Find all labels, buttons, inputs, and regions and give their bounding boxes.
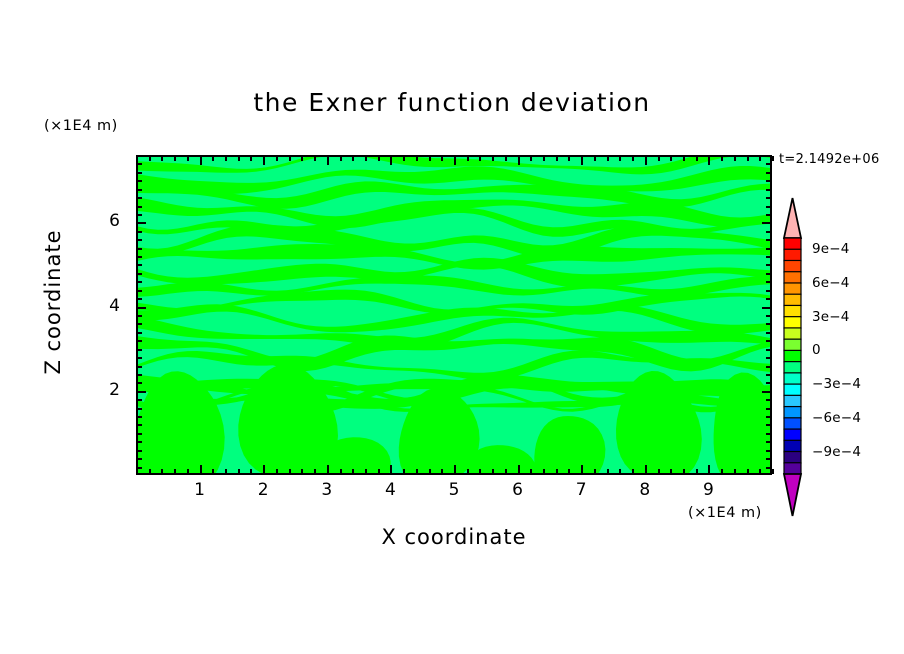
- x-tick: [772, 156, 774, 161]
- y-tick: [137, 172, 142, 174]
- x-tick: [327, 465, 329, 474]
- x-tick: [212, 156, 214, 161]
- colorbar-band: [784, 362, 801, 374]
- x-tick: [696, 469, 698, 474]
- x-tick: [556, 156, 558, 161]
- x-tick: [378, 156, 380, 161]
- y-tick: [137, 264, 142, 266]
- y-tick: [137, 180, 142, 182]
- x-tick-label: 6: [503, 480, 533, 500]
- x-tick: [505, 469, 507, 474]
- x-tick: [467, 156, 469, 161]
- x-tick: [403, 156, 405, 161]
- y-tick: [766, 366, 771, 368]
- colorbar-tick-label: −6e−4: [812, 410, 861, 426]
- x-tick: [416, 469, 418, 474]
- x-tick: [250, 156, 252, 161]
- y-tick-label: 4: [92, 296, 120, 316]
- x-tick: [518, 156, 520, 165]
- colorbar-band: [784, 429, 801, 441]
- x-tick: [479, 156, 481, 161]
- y-tick: [766, 281, 771, 283]
- x-tick: [581, 465, 583, 474]
- x-tick-label: 7: [566, 480, 596, 500]
- x-tick: [454, 465, 456, 474]
- x-tick: [594, 156, 596, 161]
- x-tick: [200, 156, 202, 165]
- y-tick: [137, 424, 142, 426]
- y-tick: [137, 450, 142, 452]
- y-tick: [766, 458, 771, 460]
- y-tick: [137, 441, 142, 443]
- y-tick: [137, 222, 146, 224]
- y-tick: [766, 340, 771, 342]
- colorbar-band: [784, 272, 801, 284]
- colorbar-band: [784, 238, 801, 250]
- colorbar-band: [784, 294, 801, 306]
- y-tick: [766, 433, 771, 435]
- x-tick: [441, 469, 443, 474]
- contour-field: [138, 157, 770, 473]
- x-tick: [301, 469, 303, 474]
- x-tick: [721, 156, 723, 161]
- x-tick: [530, 156, 532, 161]
- y-tick: [766, 239, 771, 241]
- x-tick: [556, 469, 558, 474]
- x-tick: [543, 469, 545, 474]
- y-tick: [766, 256, 771, 258]
- colorbar-band: [784, 328, 801, 340]
- x-tick: [772, 469, 774, 474]
- colorbar-gradient: [778, 192, 814, 522]
- x-tick: [708, 465, 710, 474]
- colorbar-band: [784, 339, 801, 351]
- colorbar-under-arrow: [784, 474, 801, 516]
- x-tick: [632, 469, 634, 474]
- x-axis-label: X coordinate: [136, 525, 772, 549]
- x-tick-label: 8: [630, 480, 660, 500]
- x-tick: [568, 469, 570, 474]
- colorbar-band: [784, 249, 801, 261]
- x-tick: [390, 465, 392, 474]
- x-tick: [708, 156, 710, 165]
- x-tick: [594, 469, 596, 474]
- y-tick: [137, 214, 142, 216]
- x-tick: [314, 156, 316, 161]
- x-tick: [365, 156, 367, 161]
- y-tick: [137, 273, 142, 275]
- y-tick: [766, 180, 771, 182]
- y-tick: [766, 172, 771, 174]
- y-tick: [137, 467, 142, 469]
- y-tick: [137, 315, 142, 317]
- x-tick: [352, 156, 354, 161]
- y-tick: [766, 231, 771, 233]
- y-tick: [766, 416, 771, 418]
- y-tick: [766, 214, 771, 216]
- time-annotation: t=2.1492e+06: [779, 152, 880, 167]
- y-tick: [766, 408, 771, 410]
- colorbar-tick-label: 0: [812, 342, 821, 358]
- x-tick: [161, 156, 163, 161]
- y-tick: [766, 349, 771, 351]
- x-tick: [225, 469, 227, 474]
- x-tick-label: 1: [185, 480, 215, 500]
- x-tick: [734, 156, 736, 161]
- x-tick: [658, 469, 660, 474]
- y-tick-label: 6: [92, 211, 120, 231]
- x-tick: [416, 156, 418, 161]
- x-tick: [683, 469, 685, 474]
- x-tick: [492, 156, 494, 161]
- x-tick-label: 5: [439, 480, 469, 500]
- x-tick: [530, 469, 532, 474]
- y-tick: [137, 433, 142, 435]
- x-tick: [619, 156, 621, 161]
- y-tick: [766, 273, 771, 275]
- x-tick: [365, 469, 367, 474]
- x-tick: [390, 156, 392, 165]
- y-tick: [137, 189, 142, 191]
- colorbar: 9e−46e−43e−40−3e−4−6e−4−9e−4: [778, 192, 814, 522]
- y-tick: [137, 399, 142, 401]
- x-tick: [747, 469, 749, 474]
- x-tick: [200, 465, 202, 474]
- y-axis-label: Z coordinate: [41, 202, 65, 402]
- y-tick: [137, 323, 142, 325]
- x-tick: [429, 469, 431, 474]
- x-tick: [289, 156, 291, 161]
- x-tick: [696, 156, 698, 161]
- x-tick: [238, 156, 240, 161]
- y-tick: [766, 332, 771, 334]
- x-tick: [645, 465, 647, 474]
- colorbar-band: [784, 395, 801, 407]
- colorbar-band: [784, 305, 801, 317]
- colorbar-band: [784, 260, 801, 272]
- y-tick: [137, 349, 142, 351]
- x-tick: [250, 469, 252, 474]
- x-tick: [747, 156, 749, 161]
- x-tick: [581, 156, 583, 165]
- x-tick-label: 2: [248, 480, 278, 500]
- x-tick: [759, 469, 761, 474]
- colorbar-tick-label: −9e−4: [812, 444, 861, 460]
- colorbar-band: [784, 283, 801, 295]
- colorbar-band: [784, 452, 801, 464]
- x-tick: [721, 469, 723, 474]
- y-tick: [766, 450, 771, 452]
- y-tick: [137, 206, 142, 208]
- y-tick: [766, 248, 771, 250]
- y-tick: [766, 189, 771, 191]
- x-tick: [518, 465, 520, 474]
- y-tick: [137, 163, 142, 165]
- x-tick: [543, 156, 545, 161]
- y-tick: [137, 382, 142, 384]
- x-tick: [327, 156, 329, 165]
- x-tick: [403, 469, 405, 474]
- y-tick: [137, 458, 142, 460]
- x-tick: [149, 156, 151, 161]
- x-tick: [568, 156, 570, 161]
- x-tick: [187, 469, 189, 474]
- y-tick: [137, 416, 142, 418]
- colorbar-band: [784, 418, 801, 430]
- y-tick: [766, 290, 771, 292]
- y-axis-unit-label: (×1E4 m): [44, 118, 118, 134]
- y-tick: [766, 323, 771, 325]
- x-tick: [276, 469, 278, 474]
- colorbar-band: [784, 373, 801, 385]
- x-tick: [658, 156, 660, 161]
- x-tick: [734, 469, 736, 474]
- y-tick: [137, 357, 142, 359]
- x-tick: [187, 156, 189, 161]
- chart-title: the Exner function deviation: [0, 88, 904, 117]
- colorbar-tick-label: 3e−4: [812, 309, 850, 325]
- x-tick: [505, 156, 507, 161]
- x-tick-label: 4: [375, 480, 405, 500]
- x-axis-unit-label: (×1E4 m): [688, 505, 762, 521]
- x-tick: [225, 156, 227, 161]
- colorbar-band: [784, 384, 801, 396]
- x-tick: [670, 156, 672, 161]
- contour-plot-area: [136, 155, 772, 475]
- x-tick: [276, 156, 278, 161]
- x-tick: [759, 156, 761, 161]
- y-tick: [137, 239, 142, 241]
- colorbar-tick-label: 9e−4: [812, 241, 850, 257]
- y-tick: [137, 197, 142, 199]
- x-tick: [352, 469, 354, 474]
- y-tick: [766, 424, 771, 426]
- colorbar-band: [784, 440, 801, 452]
- y-tick: [766, 163, 771, 165]
- colorbar-band: [784, 407, 801, 419]
- x-tick: [479, 469, 481, 474]
- y-tick: [137, 248, 142, 250]
- x-tick: [314, 469, 316, 474]
- x-tick: [174, 156, 176, 161]
- x-tick: [161, 469, 163, 474]
- x-tick-label: 9: [693, 480, 723, 500]
- colorbar-band: [784, 463, 801, 475]
- y-tick: [137, 298, 142, 300]
- x-tick: [429, 156, 431, 161]
- colorbar-band: [784, 350, 801, 362]
- y-tick: [137, 231, 142, 233]
- y-tick: [137, 374, 142, 376]
- x-tick: [619, 469, 621, 474]
- x-tick: [289, 469, 291, 474]
- y-tick: [766, 264, 771, 266]
- y-tick: [766, 206, 771, 208]
- y-tick-label: 2: [92, 380, 120, 400]
- y-tick: [137, 340, 142, 342]
- x-tick: [492, 469, 494, 474]
- y-tick: [137, 391, 146, 393]
- y-tick: [137, 307, 146, 309]
- y-tick: [766, 399, 771, 401]
- y-tick: [137, 256, 142, 258]
- x-tick: [632, 156, 634, 161]
- y-tick: [766, 382, 771, 384]
- x-tick: [645, 156, 647, 165]
- x-tick: [607, 469, 609, 474]
- x-tick: [263, 156, 265, 165]
- y-tick: [766, 467, 771, 469]
- x-tick: [263, 465, 265, 474]
- y-tick: [766, 298, 771, 300]
- y-tick: [762, 307, 771, 309]
- x-tick: [149, 469, 151, 474]
- y-tick: [762, 391, 771, 393]
- y-tick: [137, 290, 142, 292]
- colorbar-over-arrow: [784, 198, 801, 238]
- colorbar-tick-label: 6e−4: [812, 275, 850, 291]
- y-tick: [766, 315, 771, 317]
- y-tick: [766, 374, 771, 376]
- x-tick: [174, 469, 176, 474]
- y-tick: [137, 281, 142, 283]
- x-tick: [340, 469, 342, 474]
- y-tick: [766, 441, 771, 443]
- y-tick: [766, 197, 771, 199]
- y-tick: [137, 332, 142, 334]
- x-tick: [441, 156, 443, 161]
- x-tick-label: 3: [312, 480, 342, 500]
- x-tick: [340, 156, 342, 161]
- y-tick: [762, 222, 771, 224]
- colorbar-band: [784, 317, 801, 329]
- y-tick: [137, 408, 142, 410]
- x-tick: [454, 156, 456, 165]
- x-tick: [607, 156, 609, 161]
- x-tick: [670, 469, 672, 474]
- x-tick: [238, 469, 240, 474]
- x-tick: [467, 469, 469, 474]
- y-tick: [766, 357, 771, 359]
- x-tick: [683, 156, 685, 161]
- x-tick: [301, 156, 303, 161]
- colorbar-tick-label: −3e−4: [812, 376, 861, 392]
- x-tick: [212, 469, 214, 474]
- y-tick: [137, 366, 142, 368]
- x-tick: [378, 469, 380, 474]
